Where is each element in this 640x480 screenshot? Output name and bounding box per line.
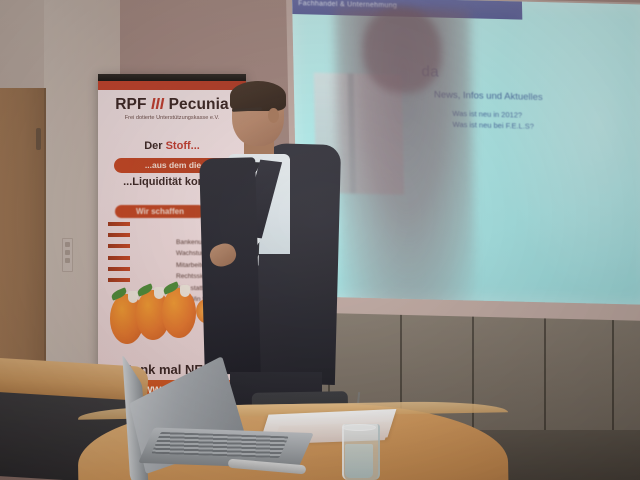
- banner-slogan-bold: Der: [144, 140, 162, 152]
- light-switch-plate: [62, 238, 73, 272]
- water-glass-rim: [342, 424, 376, 431]
- water-glass-liquid: [345, 444, 373, 478]
- banner-title-main: RPF: [115, 96, 146, 113]
- banner-top-rail: [98, 74, 246, 81]
- suit-jacket-front: [199, 157, 261, 374]
- presentation-room-photo: Fachhandel & Unternehmung da News, Infos…: [0, 0, 640, 480]
- banner-section-label: Wir schaffen: [115, 205, 205, 218]
- screen-glare: [492, 1, 640, 305]
- presenter-ear: [268, 108, 279, 123]
- laptop-keyboard: [151, 432, 289, 458]
- door-handle: [36, 128, 41, 150]
- banner-title-numeral: III: [151, 96, 164, 113]
- banner-slogan-accent: Stoff...: [166, 140, 200, 152]
